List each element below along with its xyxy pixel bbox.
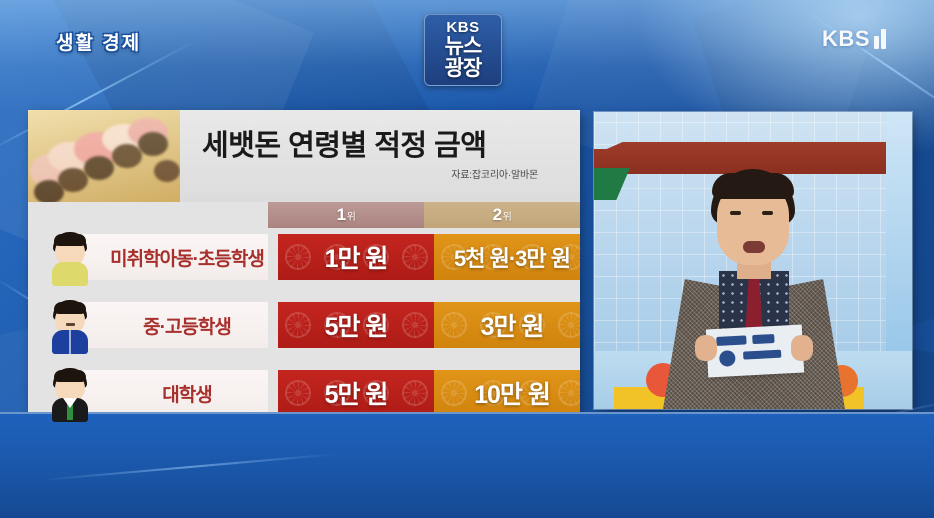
rank-header-2-number: 2 [493,205,502,225]
lower-banner-band [0,412,934,518]
panel-header: 세뱃돈 연령별 적정 금액 자료:잡코리아·알바몬 [28,110,580,202]
panel-source-credit: 자료:잡코리아·알바몬 [202,166,566,181]
row-rank1-bar: 1만 원 [278,234,434,280]
table-row: 중·고등학생 5만 원 3만 원 [28,296,580,354]
row-group-label: 중·고등학생 [96,312,278,339]
banner-streak [41,453,340,481]
anchor-fringe [712,173,794,199]
rank-header-2: 2 위 [424,202,580,228]
row-rank1-value: 5만 원 [325,307,388,343]
anchor-hand [791,335,813,361]
child-avatar-icon [44,228,96,286]
rank-header-1-suffix: 위 [347,208,356,223]
kbs-news-program-logo: KBS 뉴스 광장 [424,14,502,86]
title-block: 세뱃돈 연령별 적정 금액 자료:잡코리아·알바몬 [180,110,580,202]
program-segment-label: 생활 경제 [56,28,141,55]
watermark-network-text: KBS [822,26,870,52]
sebae-photo-thumbnail [28,110,180,202]
anchor-eye [730,211,741,215]
data-rows: 미취학아동·초등학생 1만 원 5천 원·3만 원 [28,228,580,432]
logo-network-text: KBS [446,20,479,35]
row-rank2-bar: 3만 원 [434,302,580,348]
row-group-label: 대학생 [96,380,278,407]
logo-program-line1: 뉴스 [445,36,482,58]
rank-header-1: 1 위 [268,202,424,228]
row-rank2-value: 3만 원 [481,307,544,343]
adult-avatar-icon [44,364,96,422]
row-rank2-bar: 5천 원·3만 원 [434,234,580,280]
table-row: 미취학아동·초등학생 1만 원 5천 원·3만 원 [28,228,580,286]
logo-program-line2: 광장 [445,58,482,80]
row-group-label: 미취학아동·초등학생 [96,244,278,271]
row-rank1-bar: 5만 원 [278,302,434,348]
row-rank1-value: 5만 원 [325,375,388,411]
rank-header-2-suffix: 위 [503,208,512,223]
row-rank1-value: 1만 원 [325,239,388,275]
rank-header-1-number: 1 [337,205,346,225]
news-anchor-figure [633,159,873,409]
anchor-mouth [743,241,765,253]
anchor-script-papers [706,325,804,378]
row-rank2-bar: 10만 원 [434,370,580,416]
teen-avatar-icon [44,296,96,354]
anchor-eye [762,211,773,215]
row-rank2-value: 5천 원·3만 원 [454,241,570,273]
panel-title: 세뱃돈 연령별 적정 금액 [202,131,566,163]
anchor-video-feed [594,112,912,409]
anchor-hand [695,335,717,361]
channel-one-bars-icon [874,29,886,49]
row-rank2-value: 10만 원 [474,375,550,411]
rank-header-row: 1 위 2 위 [268,202,580,228]
kbs-channel-watermark: KBS [822,26,886,52]
broadcast-frame: 생활 경제 KBS 뉴스 광장 KBS 세뱃돈 연령별 적정 금액 [0,0,934,518]
row-rank1-bar: 5만 원 [278,370,434,416]
